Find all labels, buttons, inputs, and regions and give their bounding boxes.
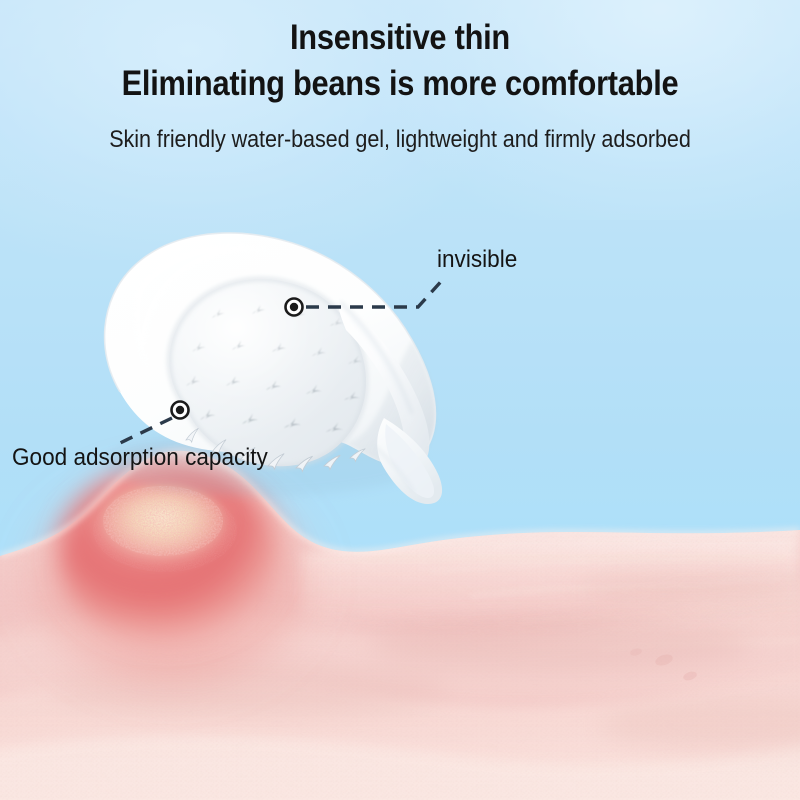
skin-pores xyxy=(629,647,698,682)
headline-line-2: Eliminating beans is more comfortable xyxy=(48,64,752,104)
subheadline: Skin friendly water-based gel, lightweig… xyxy=(40,125,760,155)
skin-dune-front xyxy=(0,664,800,800)
skin-shadows xyxy=(50,572,800,752)
headline-line-1: Insensitive thin xyxy=(48,18,752,58)
callout-label-invisible: invisible xyxy=(437,246,517,274)
skin-dune-mid xyxy=(0,585,800,700)
product-infographic-poster: invisible Good adsorption capacity Insen… xyxy=(0,0,800,800)
callout-label-adsorption: Good adsorption capacity xyxy=(12,444,268,472)
skin-dune-foreground xyxy=(0,736,800,800)
